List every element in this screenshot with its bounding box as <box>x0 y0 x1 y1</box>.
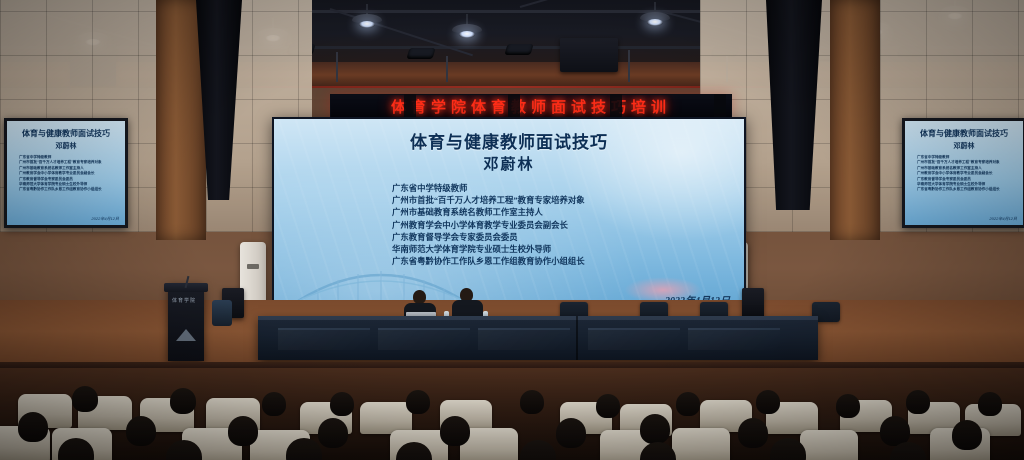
floor-speaker-right <box>742 288 764 318</box>
stage-chair-left <box>212 300 232 326</box>
credential-line: 广州市基础教育系统名教师工作室主持人 <box>392 207 734 219</box>
side-right-date: 2022年4月12日 <box>989 216 1017 222</box>
ceiling-lamp <box>452 24 482 40</box>
audience-head <box>520 390 544 414</box>
audience-head <box>170 388 196 414</box>
seat <box>672 428 730 460</box>
projection-screen: 体育与健康教师面试技巧 邓蔚林 广东省中学特级教师 广州市首批“百千万人才培养工… <box>272 117 746 317</box>
audience-head <box>72 386 98 412</box>
side-left-date: 2022年4月12日 <box>91 216 119 222</box>
stage-light <box>504 44 533 55</box>
auditorium-photo: 体育学院体育教师面试技巧培训 体育与健康教师面试技巧 邓蔚林 <box>0 0 1024 460</box>
credential-line: 广东省粤黔协作工作队乡恩工作组教育协作小组组长 <box>392 256 734 268</box>
podium: 体育学院 <box>168 283 204 361</box>
credential-line: 广州市首批“百千万人才培养工程”教育专家培养对象 <box>392 195 734 207</box>
slide-speaker-name: 邓蔚林 <box>274 153 744 174</box>
side-display-right: 体育与健康教师面试技巧 邓蔚林 广东省中学特级教师 广州市首批“百千万人才培养工… <box>902 118 1024 228</box>
side-right-credentials: 广东省中学特级教师 广州市首批“百千万人才培养工程”教育专家培养对象 广州市基础… <box>917 155 1019 193</box>
ceiling-lamp <box>352 14 382 30</box>
side-left-credentials: 广东省中学特级教师 广州市首批“百千万人才培养工程”教育专家培养对象 广州市基础… <box>19 155 121 193</box>
audience-head <box>126 416 156 446</box>
credential-line: 华南师范大学体育学院专业硕士生校外导师 <box>392 244 734 256</box>
audience-head <box>406 390 430 414</box>
credential-line: 广东省粤黔协作工作队乡恩工作组教育协作小组组长 <box>19 187 121 192</box>
audience-head <box>906 390 930 414</box>
audience-head <box>440 416 470 446</box>
slide-title: 体育与健康教师面试技巧 <box>274 128 744 153</box>
side-left-title: 体育与健康教师面试技巧 <box>7 128 125 139</box>
side-left-speaker: 邓蔚林 <box>7 141 125 151</box>
stage-light <box>406 48 435 59</box>
wood-pillar-right <box>830 0 880 240</box>
audience-head <box>952 420 982 450</box>
ceiling-lamp <box>640 12 670 28</box>
presentation-slide: 体育与健康教师面试技巧 邓蔚林 广东省中学特级教师 广州市首批“百千万人才培养工… <box>274 119 744 315</box>
audience-head <box>18 412 48 442</box>
side-right-speaker: 邓蔚林 <box>905 141 1023 151</box>
audience-head <box>262 392 286 416</box>
audience-head <box>676 392 700 416</box>
audience-head <box>520 440 556 460</box>
audience-head <box>640 414 670 444</box>
ceiling-speaker-right <box>560 38 618 72</box>
slide-credentials-list: 广东省中学特级教师 广州市首批“百千万人才培养工程”教育专家培养对象 广州市基础… <box>392 183 734 268</box>
credential-line: 广州教育学会中小学体育教学专业委员会副会长 <box>392 220 734 232</box>
audience-head <box>556 418 586 448</box>
led-banner-text: 体育学院体育教师面试技巧培训 <box>391 96 671 117</box>
podium-label: 体育学院 <box>172 297 196 304</box>
audience-head <box>738 418 768 448</box>
credential-line: 广东省中学特级教师 <box>392 183 734 195</box>
audience-head <box>596 394 620 418</box>
audience-head <box>318 418 348 448</box>
audience-head <box>836 394 860 418</box>
side-display-left: 体育与健康教师面试技巧 邓蔚林 广东省中学特级教师 广州市首批“百千万人才培养工… <box>4 118 128 228</box>
audience-head <box>978 392 1002 416</box>
side-right-title: 体育与健康教师面试技巧 <box>905 128 1023 139</box>
audience-head <box>286 438 322 460</box>
audience-head <box>330 392 354 416</box>
credential-line: 广东教育督导学会专家委员会委员 <box>392 232 734 244</box>
audience-area <box>0 368 1024 460</box>
credential-line: 广东省粤黔协作工作队乡恩工作组教育协作小组组长 <box>917 187 1019 192</box>
conference-table <box>258 316 818 360</box>
audience-head <box>228 416 258 446</box>
seat <box>800 430 858 460</box>
led-banner: 体育学院体育教师面试技巧培训 <box>330 94 732 118</box>
audience-head <box>756 390 780 414</box>
